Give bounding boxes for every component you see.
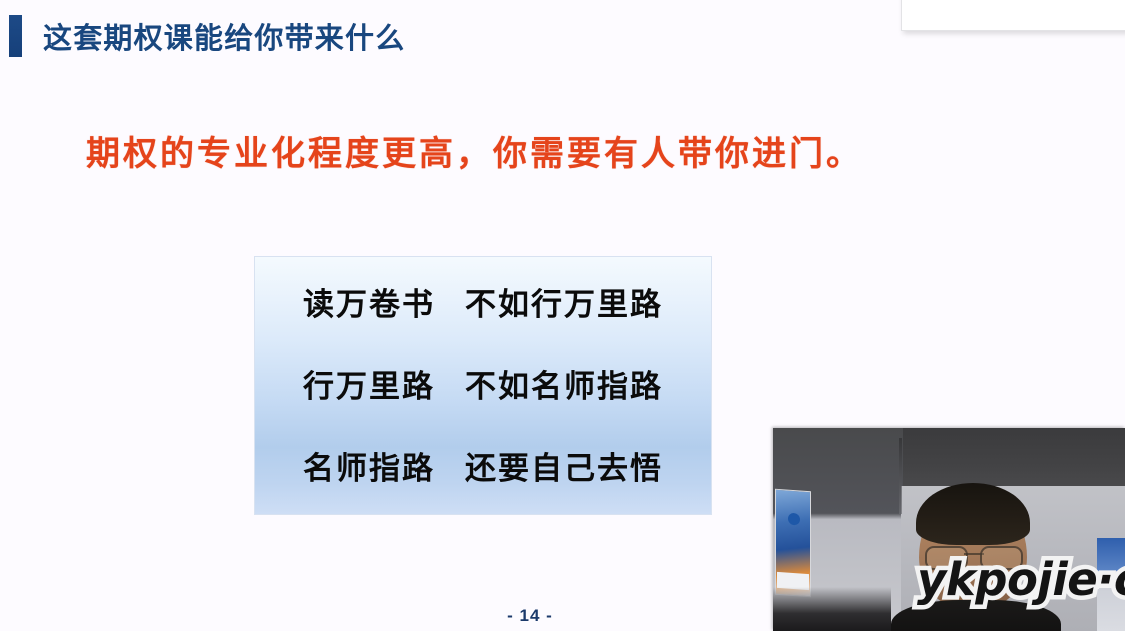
quote-line-1-gap [435,279,465,324]
quote-line-3: 名师指路 还要自己去悟 [255,443,711,488]
quote-image-block: 读万卷书 不如行万里路 行万里路 不如名师指路 名师指路 还要自己去悟 [255,257,711,514]
title-accent-bar [9,15,22,57]
webcam-wall-edge [899,438,902,514]
quote-line-2-gap [435,361,465,406]
site-watermark: ykpojie·com [917,553,1125,606]
page-title: 这套期权课能给你带来什么 [43,15,405,57]
slide-title-row: 这套期权课能给你带来什么 [0,10,700,62]
quote-line-2-left: 行万里路 [303,361,435,406]
quote-line-2-right: 不如名师指路 [465,361,663,406]
floating-top-right-panel[interactable] [901,0,1125,31]
slide-subtitle: 期权的专业化程度更高，你需要有人带你进门。 [86,126,863,175]
quote-line-2: 行万里路 不如名师指路 [255,361,711,406]
quote-line-3-left: 名师指路 [303,443,435,488]
webcam-foreground-shadow [773,587,891,631]
quote-line-3-gap [435,443,465,488]
quote-line-1-left: 读万卷书 [303,279,435,324]
webcam-poster-dot [788,513,800,526]
webcam-wall-poster [775,489,811,598]
quote-line-1: 读万卷书 不如行万里路 [255,279,711,324]
slide-canvas: 这套期权课能给你带来什么 期权的专业化程度更高，你需要有人带你进门。 读万卷书 … [0,0,1125,631]
quote-line-1-right: 不如行万里路 [465,279,663,324]
quote-line-3-right: 还要自己去悟 [465,443,663,488]
